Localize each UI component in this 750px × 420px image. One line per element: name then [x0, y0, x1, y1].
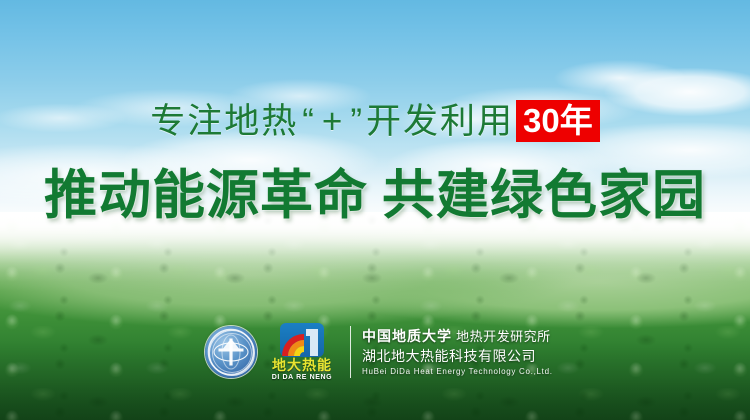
brand-name-cn: 地大热能 — [263, 358, 341, 373]
quote-open: “ — [298, 102, 318, 141]
headline-main-right: 共建绿色家园 — [382, 166, 706, 225]
headline-subtitle-middle: 开发利用 — [366, 102, 514, 141]
footer-divider — [350, 326, 351, 378]
org-company-name-en: HuBei DiDa Heat Energy Technology Co.,Lt… — [362, 366, 565, 378]
headline-main-left: 推动能源革命 — [44, 166, 368, 225]
org-institute-name: 地热开发研究所 — [456, 329, 551, 344]
footer-branding: 地大热能 DI DA RE NENG 中国地质大学 地热开发研究所 湖北地大热能… — [205, 318, 565, 386]
dida-brand-logo: 地大热能 DI DA RE NENG — [263, 323, 341, 382]
brand-name-en: DI DA RE NENG — [263, 373, 341, 382]
headline-subtitle-prefix: 专注地热 — [150, 102, 298, 141]
headline-main: 推动能源革命共建绿色家园 — [0, 165, 750, 227]
org-institute-line: 中国地质大学 地热开发研究所 — [362, 328, 565, 347]
rainbow-arc-glyph — [280, 323, 324, 357]
seal-emblem-glyph — [205, 326, 257, 378]
plus-symbol: + — [318, 102, 346, 141]
headline-subtitle: 专注地热“+”开发利用30年 — [0, 100, 750, 144]
years-badge: 30年 — [516, 100, 600, 142]
organization-names: 中国地质大学 地热开发研究所 湖北地大热能科技有限公司 HuBei DiDa H… — [362, 326, 565, 378]
university-seal-icon — [205, 326, 257, 378]
brand-mark-icon — [280, 323, 324, 357]
org-university-name: 中国地质大学 — [362, 330, 452, 345]
promotional-banner: 专注地热“+”开发利用30年 推动能源革命共建绿色家园 — [0, 0, 750, 420]
quote-close: ” — [346, 102, 366, 141]
org-company-name-cn: 湖北地大热能科技有限公司 — [362, 347, 565, 366]
